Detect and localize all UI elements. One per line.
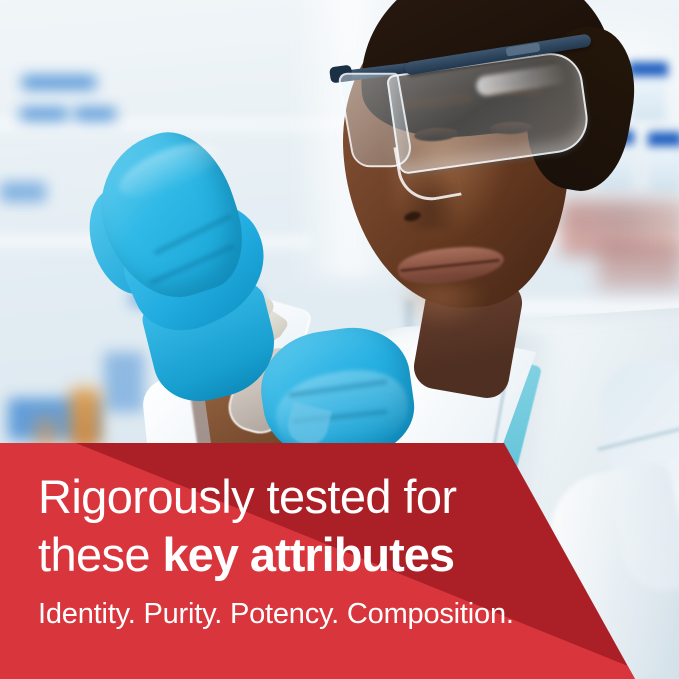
headline-line-1: Rigorously tested for bbox=[38, 468, 598, 526]
blue-label-block bbox=[74, 108, 116, 120]
blue-label-block bbox=[104, 352, 144, 412]
promotional-banner-image: Rigorously tested for these key attribut… bbox=[0, 0, 679, 679]
amber-bottle bbox=[70, 388, 100, 450]
blue-label-block bbox=[20, 108, 68, 120]
headline-line-2: these key attributes bbox=[38, 526, 598, 584]
chin bbox=[396, 284, 488, 330]
bottle-body bbox=[650, 146, 679, 192]
headline-line-2-light: these bbox=[38, 528, 162, 581]
blue-label-block bbox=[0, 182, 46, 202]
bottle-body bbox=[630, 76, 665, 122]
sample-rack bbox=[598, 244, 679, 288]
headline-line-2-bold: key attributes bbox=[162, 528, 454, 581]
banner-text-block: Rigorously tested for these key attribut… bbox=[38, 468, 598, 631]
subheadline: Identity. Purity. Potency. Composition. bbox=[38, 597, 598, 631]
reagent-bottle bbox=[648, 132, 679, 190]
blue-label-block bbox=[22, 76, 96, 89]
